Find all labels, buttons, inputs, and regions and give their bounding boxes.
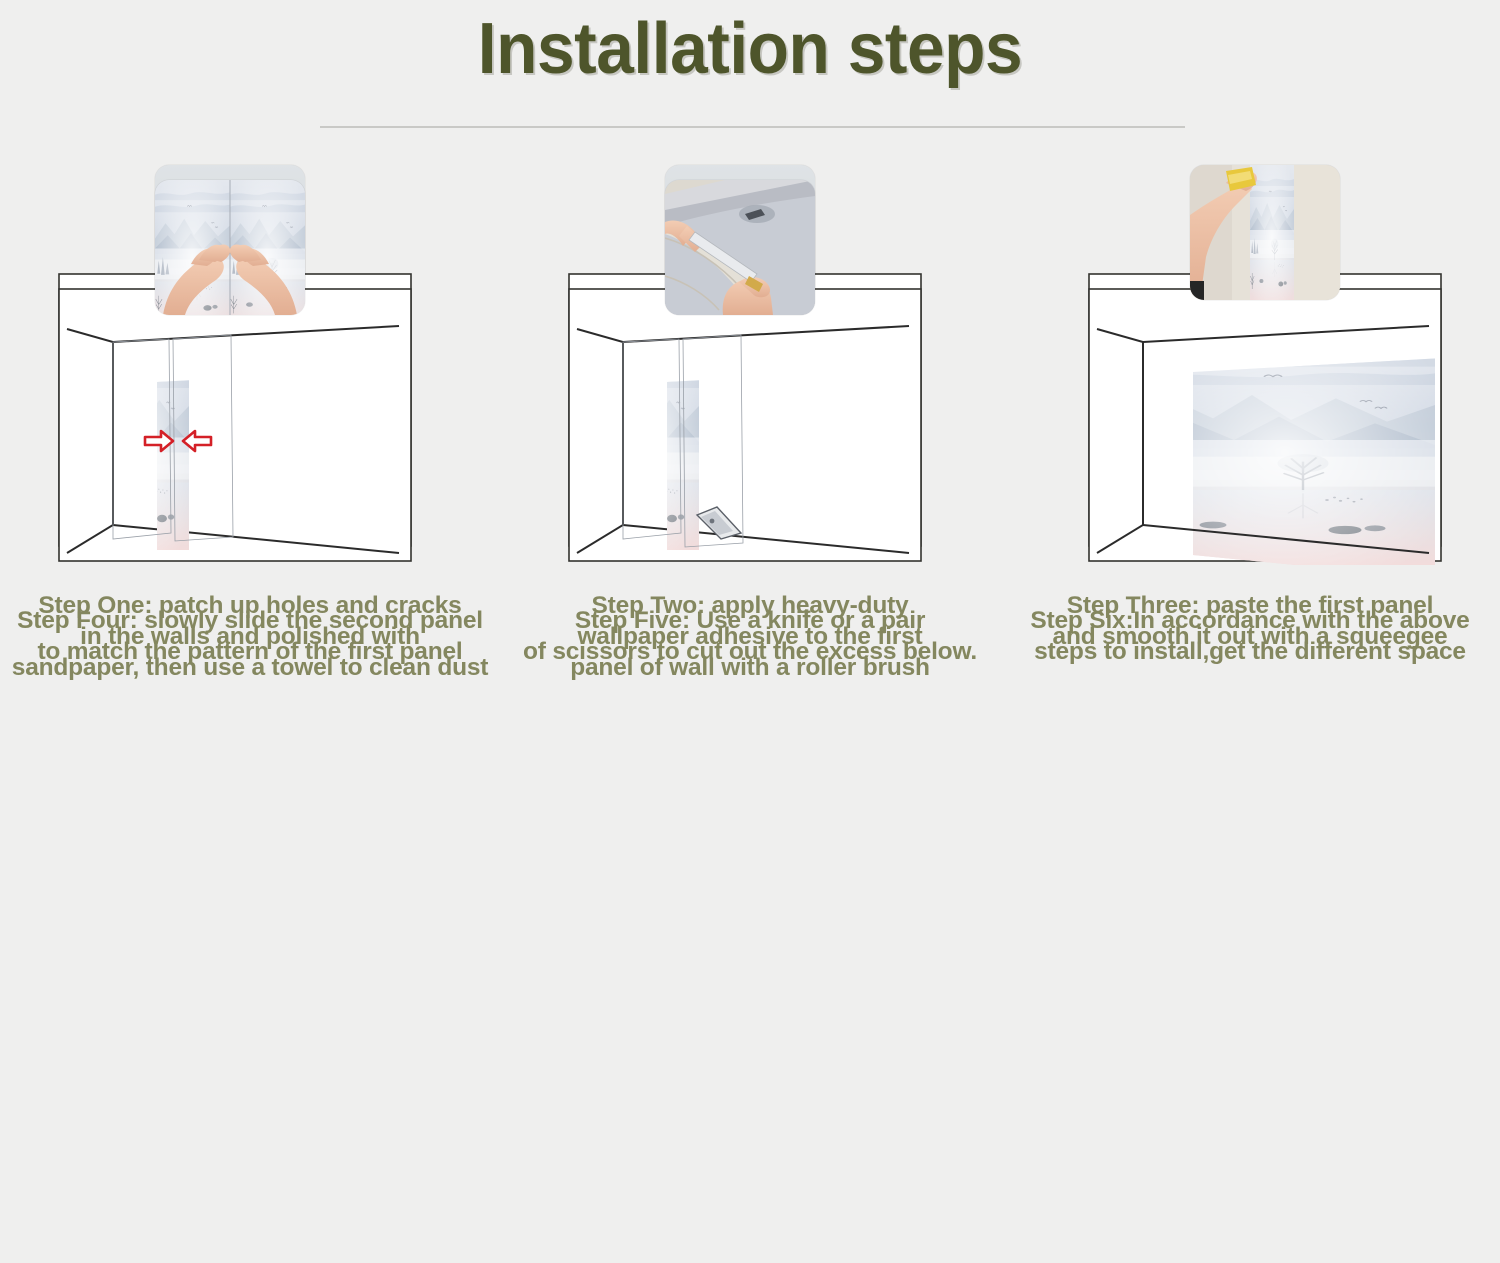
photo-step-three <box>1190 165 1340 300</box>
page-title: Installation steps <box>45 8 1455 90</box>
caption-step-six: Step Six:In accordance with the above st… <box>1000 605 1500 667</box>
caption-step-four: Step Four: slowly slide the second panel… <box>0 605 500 667</box>
room-diagram-five <box>565 285 925 565</box>
caption-step-five: Step Five: Use a knife or a pair of scis… <box>500 605 1000 667</box>
photo-step-five <box>665 180 815 315</box>
room-diagram-six <box>1085 285 1445 565</box>
room-diagram-four <box>55 285 415 565</box>
title-divider <box>320 126 1185 128</box>
photo-step-four <box>155 180 305 315</box>
